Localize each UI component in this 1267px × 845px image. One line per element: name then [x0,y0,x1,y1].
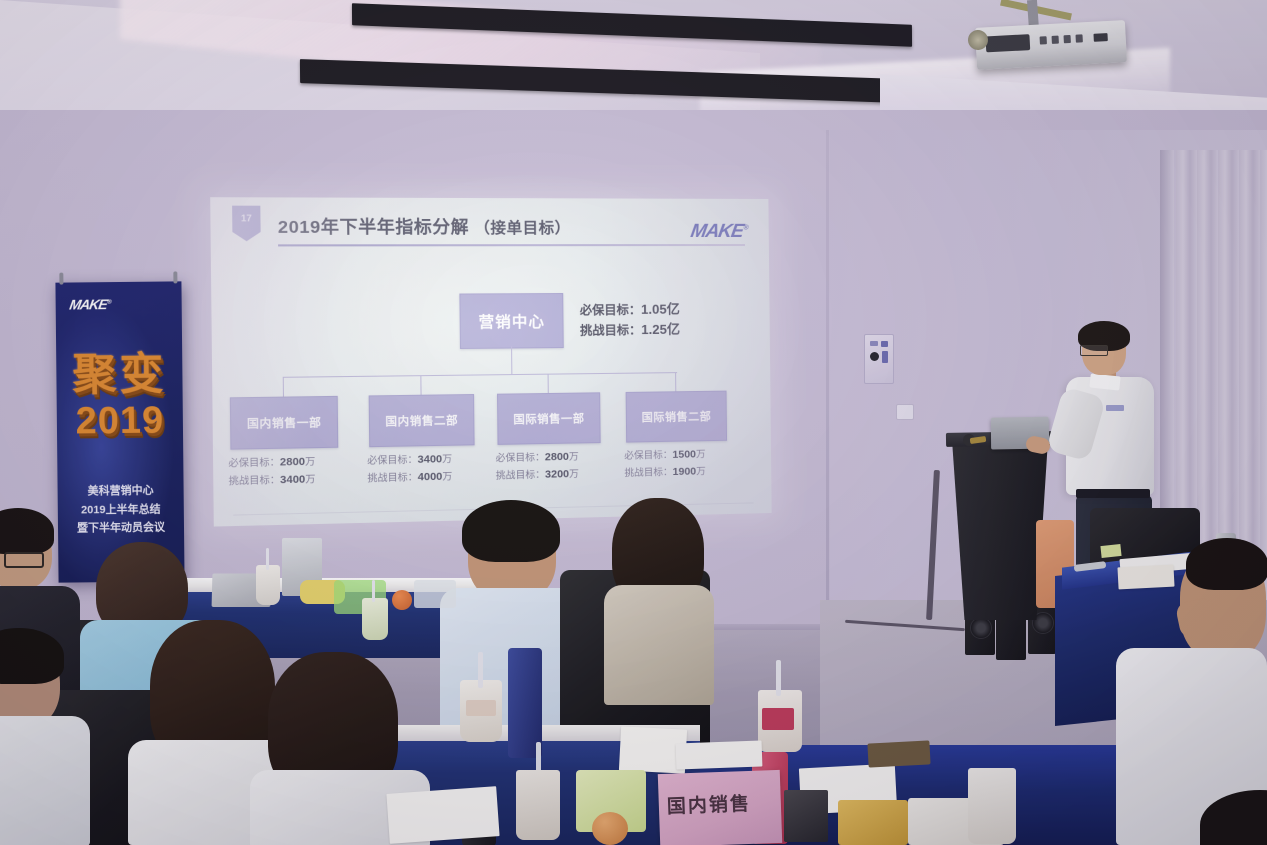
dept-target-label: 必保目标： [624,450,672,462]
banner-subtext: 美科营销中心 2019上半年总结 暨下半年动员会议 [58,481,185,538]
dept-target-unit: 万 [305,456,315,468]
banner-line: 美科营销中心 [58,481,184,501]
dept-target-label: 必保目标： [228,457,280,469]
org-node-root-label: 营销中心 [478,310,545,332]
glasses-icon [1080,345,1108,356]
dept-target-unit: 万 [442,454,452,466]
projection-screen: 17 2019年下半年指标分解（接单目标） MAKE® 营销中心 必保目标：1.… [210,197,771,526]
org-node-dept-label: 国际销售二部 [642,408,712,425]
presenter-collar [1089,373,1120,390]
dept-target-unit: 万 [696,467,706,478]
org-connector-drop [420,375,421,395]
cup-label [762,708,794,730]
fruit [592,812,628,845]
dept-target-unit: 万 [442,472,452,484]
projector-port [1040,36,1047,44]
root-target-value: 1.25亿 [641,322,680,337]
org-node-dept-label: 国内销售二部 [385,412,458,430]
make-logo: MAKE® [689,221,749,243]
drink-cup [516,770,560,840]
dept-targets: 必保目标：2800万 挑战目标：3200万 [496,449,579,486]
banner-hook [59,273,63,285]
dept-target-label: 挑战目标： [624,467,672,479]
slide-number-badge: 17 [232,206,261,242]
sticky-note [1100,544,1121,558]
make-logo-text: MAKE [689,221,745,242]
dept-target-unit: 万 [569,469,579,480]
slide-title-sub: （接单目标） [474,220,571,237]
paper-sheet [676,741,763,770]
dept-target-value: 4000 [418,471,443,484]
black-box [784,790,828,842]
dept-target-value: 3400 [417,453,442,466]
banner-headline: 聚变 [56,337,183,402]
dept-target-value: 1500 [672,448,696,461]
drink-cup [362,598,388,640]
org-node-root: 营销中心 [459,293,563,349]
banner-line: 2019上半年总结 [58,500,184,520]
org-connector-drop [548,374,549,393]
snack-pile [838,800,908,845]
rollup-banner: MAKE® 聚变 2019 美科营销中心 2019上半年总结 暨下半年动员会议 [55,281,184,582]
org-node-dept: 国内销售二部 [369,394,475,447]
dept-targets: 必保目标：3400万 挑战目标：4000万 [367,451,452,488]
org-node-dept: 国际销售二部 [626,391,727,443]
cup-label [466,700,496,716]
drink-cup [968,768,1016,844]
root-target-label: 必保目标： [580,303,641,318]
presenter-belt [1076,489,1150,498]
straw [478,652,483,688]
straw [372,580,375,602]
dept-target-unit: 万 [696,449,706,460]
banner-year: 2019 [57,399,183,443]
av-wall-panel[interactable] [864,334,894,384]
org-node-dept-label: 国际销售一部 [513,410,584,427]
org-connector-bus [283,372,677,378]
shirt-logo [1106,405,1124,411]
attendee-hair [462,500,560,562]
projector-port [1093,33,1107,42]
dept-target-unit: 万 [305,474,315,486]
table-sign: 国内销售 [658,770,782,845]
slide: 17 2019年下半年指标分解（接单目标） MAKE® 营销中心 必保目标：1.… [210,197,771,526]
registered-mark: ® [743,225,748,232]
title-underline [278,244,745,246]
projector-port [1075,34,1082,42]
dept-targets: 必保目标：2800万 挑战目标：3400万 [228,453,315,491]
dept-target-label: 挑战目标： [496,470,545,482]
glasses-icon [4,552,44,568]
banner-registered-mark: ® [107,299,111,305]
org-node-dept-label: 国内销售一部 [247,414,322,432]
slide-title: 2019年下半年指标分解（接单目标） [278,212,571,238]
org-connector-drop [283,377,284,397]
wall-corner [826,130,829,650]
dept-target-value: 2800 [545,451,569,464]
straw [266,548,269,570]
dept-target-label: 挑战目标： [229,475,281,488]
org-connector-drop [675,372,676,391]
banner-hook [173,271,177,283]
banner-make-logo: MAKE® [68,296,111,312]
dept-target-unit: 万 [569,452,579,463]
lectern [952,440,1048,620]
power-outlet [896,404,914,420]
projector-port [1064,35,1071,43]
dept-target-label: 挑战目标： [367,472,417,484]
drink-cup [256,565,280,605]
attendee-body [0,716,90,845]
org-connector-stem [511,346,512,374]
root-target-label: 挑战目标： [580,323,641,338]
orange-fruit [392,590,412,610]
straw [776,660,781,696]
table-sign-text: 国内销售 [666,789,751,819]
root-target-value: 1.05亿 [641,302,680,317]
org-node-dept: 国内销售一部 [230,396,338,450]
banner-line: 暨下半年动员会议 [58,519,184,539]
food-container [414,580,456,608]
wooden-tray [867,740,930,767]
projector-vent [985,34,1030,52]
dept-target-value: 1900 [673,466,697,479]
slide-title-main: 2019年下半年指标分解 [278,217,469,237]
attendee-hair [1186,538,1267,590]
dept-target-value: 3200 [545,468,569,481]
attendee-body [604,585,714,705]
dept-target-label: 必保目标： [367,455,417,467]
banner-logo-text: MAKE [68,296,108,312]
open-notebook [1117,565,1174,590]
dept-target-value: 3400 [280,474,305,487]
projector [975,20,1127,70]
notebook [386,786,499,844]
dept-target-label: 必保目标： [496,452,545,464]
root-targets: 必保目标：1.05亿 挑战目标：1.25亿 [580,299,680,341]
dept-target-value: 2800 [280,456,305,469]
projector-port [1052,36,1059,44]
root-target-row: 必保目标：1.05亿 [580,299,680,320]
root-target-row: 挑战目标：1.25亿 [580,320,680,341]
conference-room-photo: 17 2019年下半年指标分解（接单目标） MAKE® 营销中心 必保目标：1.… [0,0,1267,845]
org-node-dept: 国际销售一部 [497,392,601,445]
dept-targets: 必保目标：1500万 挑战目标：1900万 [624,446,706,483]
